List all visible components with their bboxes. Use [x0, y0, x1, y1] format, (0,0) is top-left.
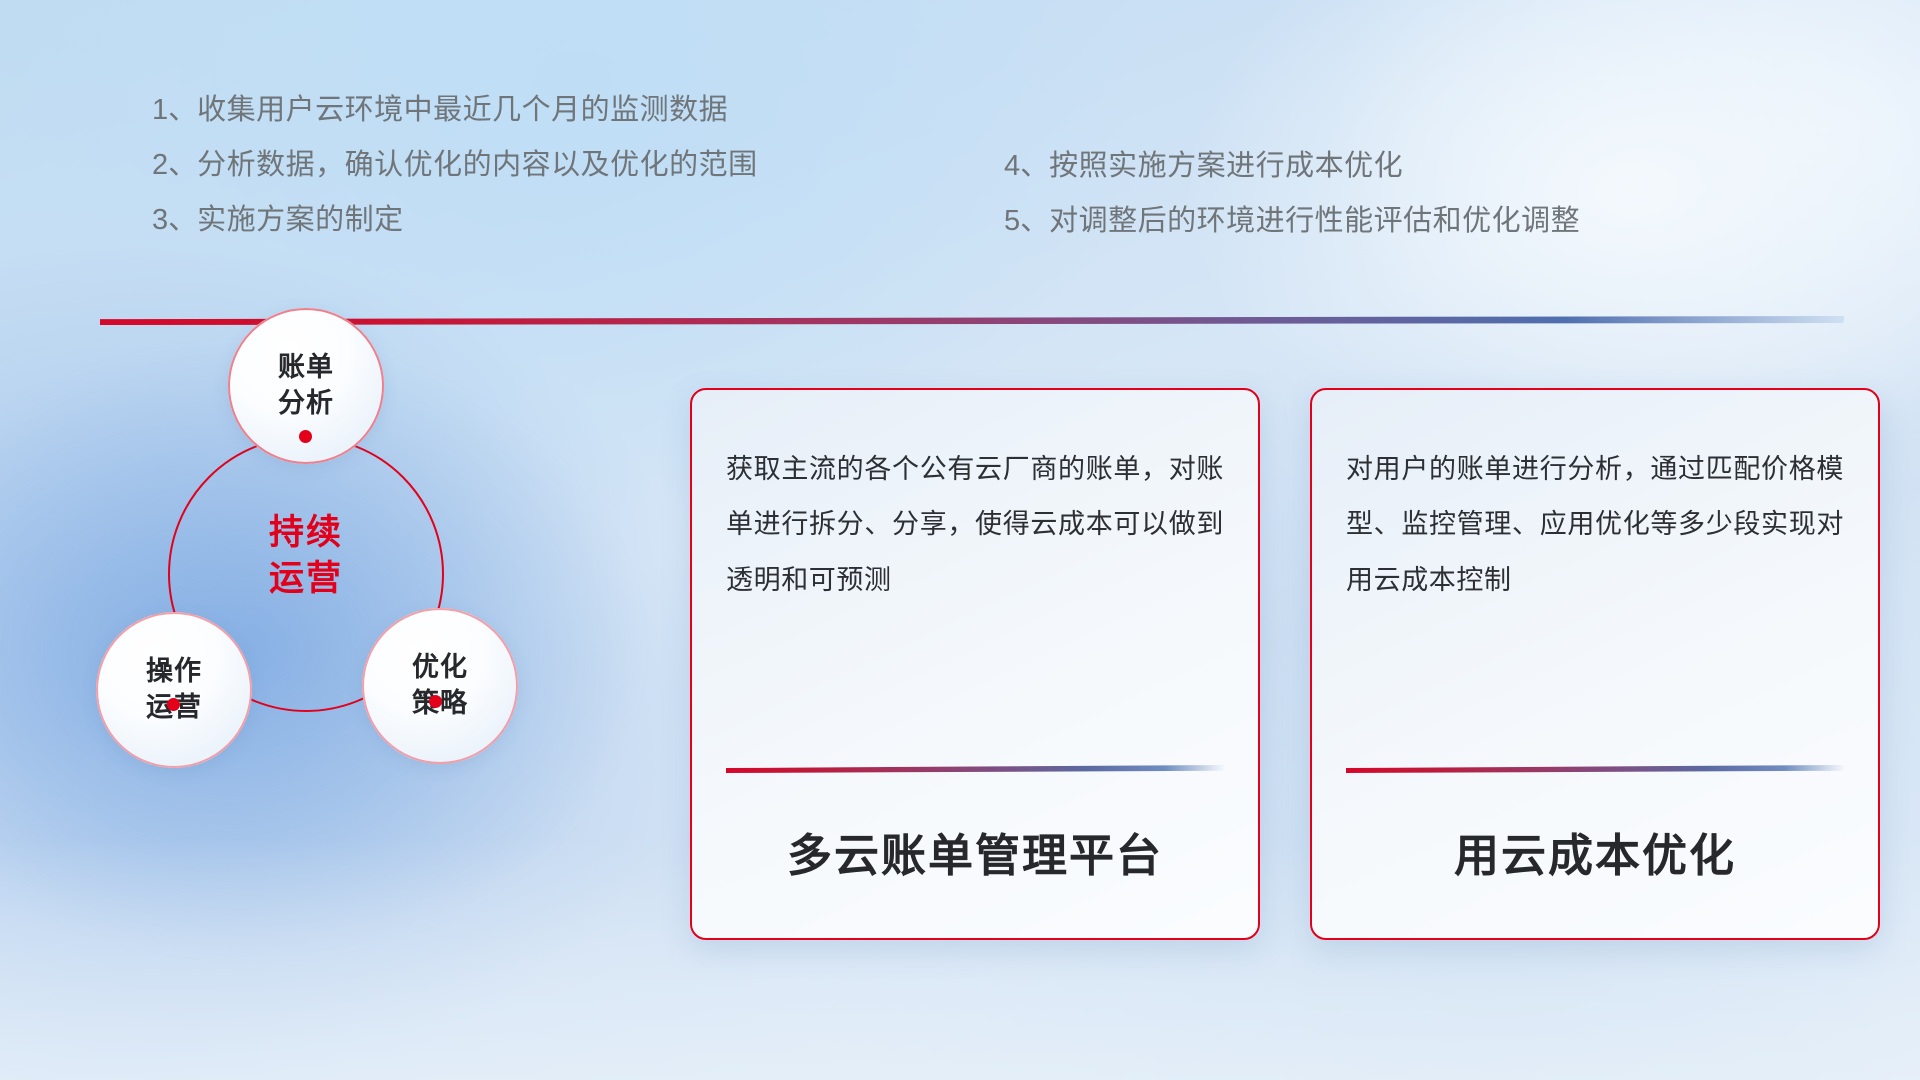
list-item-label: 实施方案的制定: [197, 204, 404, 236]
list-item: 2、分析数据，确认优化的内容以及优化的范围: [152, 151, 758, 180]
card-title: 多云账单管理平台: [726, 819, 1224, 884]
feature-card-billing-platform[interactable]: 获取主流的各个公有云厂商的账单，对账单进行拆分、分享，使得云成本可以做到透明和可…: [690, 388, 1260, 940]
venn-node-dot-left: [167, 698, 180, 711]
list-item-label: 分析数据，确认优化的内容以及优化的范围: [197, 149, 758, 181]
card-divider: [1346, 765, 1844, 773]
steps-list-left: 1、收集用户云环境中最近几个月的监测数据 2、分析数据，确认优化的内容以及优化的…: [152, 96, 758, 261]
steps-list-right: 4、按照实施方案进行成本优化 5、对调整后的环境进行性能评估和优化调整: [1004, 152, 1580, 262]
venn-center-label: 持续 运营: [168, 510, 444, 601]
list-item-number: 1、: [152, 94, 197, 126]
card-title: 用云成本优化: [1346, 819, 1844, 884]
venn-node-dot-right: [429, 695, 442, 708]
list-item: 3、实施方案的制定: [152, 206, 758, 235]
card-body-text: 对用户的账单进行分析，通过匹配价格模型、监控管理、应用优化等多少段实现对用云成本…: [1346, 442, 1844, 608]
list-item: 4、按照实施方案进行成本优化: [1004, 152, 1580, 181]
venn-center-label-line2: 运营: [269, 559, 343, 598]
venn-node-dot-top: [299, 430, 312, 443]
list-item-number: 3、: [152, 204, 197, 236]
list-item: 5、对调整后的环境进行性能评估和优化调整: [1004, 207, 1580, 236]
list-item-number: 4、: [1004, 150, 1049, 182]
list-item-label: 对调整后的环境进行性能评估和优化调整: [1049, 205, 1580, 237]
list-item-label: 按照实施方案进行成本优化: [1049, 150, 1403, 182]
venn-diagram: 账单 分析 操作 运营 优化 策略 持续 运营: [90, 340, 610, 940]
list-item-number: 5、: [1004, 205, 1049, 237]
venn-center-label-line1: 持续: [269, 513, 343, 552]
feature-card-cost-optimization[interactable]: 对用户的账单进行分析，通过匹配价格模型、监控管理、应用优化等多少段实现对用云成本…: [1310, 388, 1880, 940]
card-divider: [726, 765, 1224, 773]
list-item: 1、收集用户云环境中最近几个月的监测数据: [152, 96, 758, 125]
venn-bubble-outline-right: [362, 608, 518, 764]
venn-bubble-outline-left: [96, 612, 252, 768]
list-item-label: 收集用户云环境中最近几个月的监测数据: [197, 94, 728, 126]
list-item-number: 2、: [152, 149, 197, 181]
card-body-text: 获取主流的各个公有云厂商的账单，对账单进行拆分、分享，使得云成本可以做到透明和可…: [726, 442, 1224, 608]
